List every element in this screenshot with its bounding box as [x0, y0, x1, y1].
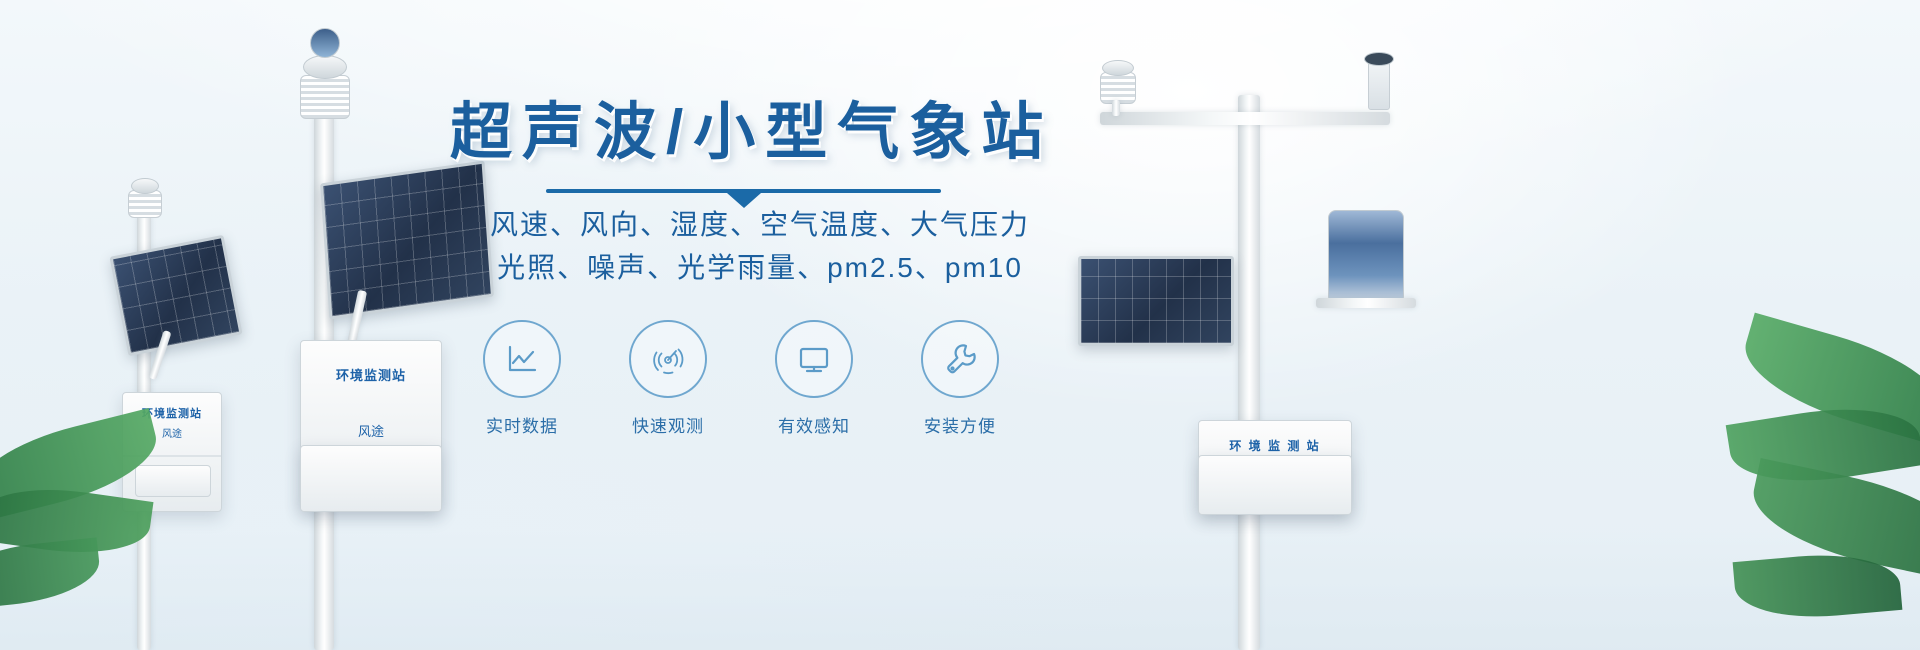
- feature-list: 实时数据 快速观测: [468, 320, 1070, 437]
- wrench-icon: [921, 320, 999, 398]
- cabinet-label-center: 环境监测站: [301, 365, 441, 384]
- sensor-cap-left: [131, 178, 159, 194]
- leaf-decor-left: [0, 370, 230, 610]
- radiation-shield-left: [128, 190, 162, 218]
- leaf-decor-right: [1660, 330, 1920, 630]
- feature-label: 快速观测: [614, 412, 722, 437]
- product-banner: 环境监测站 风途 环境监测站 风途 环 境 监: [0, 0, 1920, 650]
- gauge-shelf-right: [1316, 298, 1416, 308]
- feature-label: 安装方便: [906, 412, 1014, 437]
- cabinet-lower-center: [300, 445, 442, 512]
- feature-label: 有效感知: [760, 412, 868, 437]
- feature-item-effective-sensing[interactable]: 有效感知: [760, 320, 868, 437]
- title-divider: [546, 189, 941, 193]
- feature-item-realtime-data[interactable]: 实时数据: [468, 320, 576, 437]
- banner-subtitle-line1: 风速、风向、湿度、空气温度、大气压力: [450, 203, 1070, 246]
- monitor-icon: [775, 320, 853, 398]
- rain-gauge-right: [1328, 210, 1404, 304]
- cabinet-lower-right: [1198, 455, 1352, 515]
- feature-item-fast-observation[interactable]: 快速观测: [614, 320, 722, 437]
- divider-triangle-icon: [727, 193, 761, 208]
- line-chart-icon: [483, 320, 561, 398]
- dome-sensor-center: [310, 28, 340, 58]
- solar-panel-right: [1078, 256, 1234, 346]
- anemometer-head-right: [1364, 52, 1394, 66]
- shield-stem-right: [1112, 100, 1120, 116]
- banner-content: 超声波/小型气象站 风速、风向、湿度、空气温度、大气压力 光照、噪声、光学雨量、…: [450, 100, 1070, 437]
- radiation-shield-center: [300, 75, 350, 119]
- banner-subtitle-line2: 光照、噪声、光学雨量、pm2.5、pm10: [450, 246, 1070, 289]
- mast-pole-right: [1238, 95, 1260, 650]
- ground-gradient: [0, 530, 1920, 650]
- sensor-cap-center: [303, 55, 347, 79]
- radar-signal-icon: [629, 320, 707, 398]
- feature-label: 实时数据: [468, 412, 576, 437]
- feature-item-easy-installation[interactable]: 安装方便: [906, 320, 1014, 437]
- cabinet-label-right: 环 境 监 测 站: [1199, 437, 1351, 454]
- cabinet-brand-center: 风途: [301, 421, 441, 440]
- sensor-cap-right: [1102, 60, 1134, 76]
- solar-panel-left: [109, 235, 242, 356]
- banner-title: 超声波/小型气象站: [450, 100, 1070, 167]
- cross-arm-right: [1100, 112, 1390, 125]
